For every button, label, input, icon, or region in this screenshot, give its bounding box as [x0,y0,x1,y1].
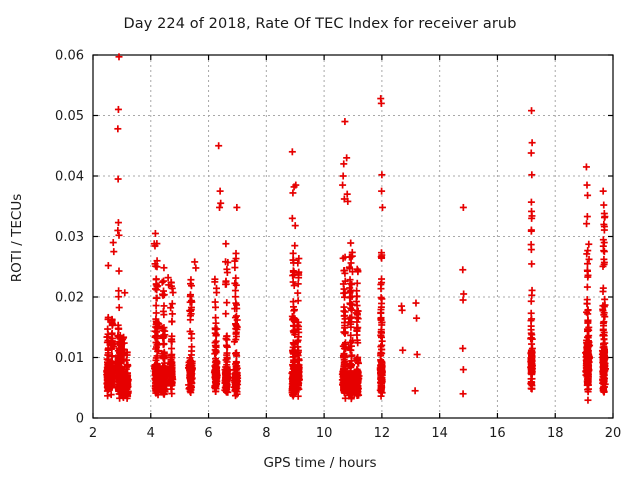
data-points [103,53,609,403]
roti-scatter-chart: Day 224 of 2018, Rate Of TEC Index for r… [0,0,640,480]
tick-labels: 246810121416182000.010.020.030.040.050.0… [55,49,621,442]
plot-canvas: 246810121416182000.010.020.030.040.050.0… [0,0,640,480]
